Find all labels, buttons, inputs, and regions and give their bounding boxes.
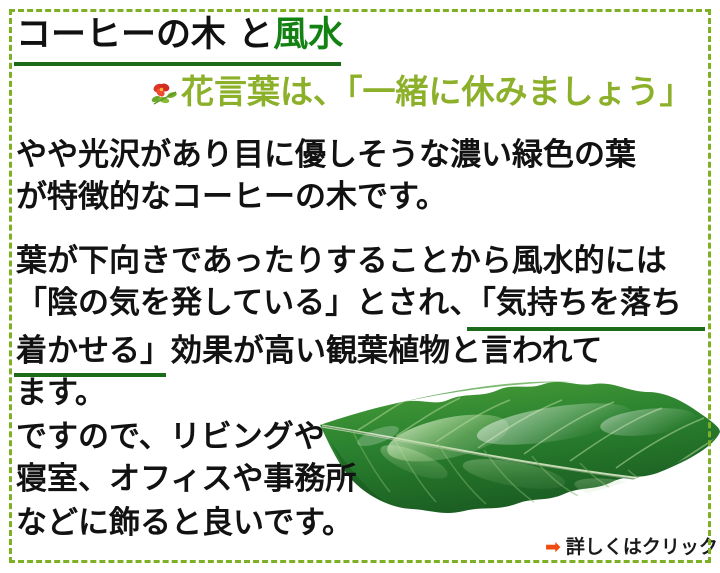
title-text-black: コーヒーの木 と [16, 15, 273, 55]
cta-label: 詳しくはクリック! [566, 536, 720, 558]
flower-icon [150, 80, 180, 108]
underline-kikaseru [14, 373, 166, 377]
paragraph-2-line-4: ます。 [16, 372, 106, 414]
coffee-feng-shui-banner: コーヒーの木 と風水 花言葉は、「一緒に休みましょう」 やや光沢があり目に優しそ… [0, 0, 720, 573]
title-text-fengshui: 風水 [273, 15, 343, 55]
paragraph-2-line-2: 「陰の気を発している」とされ、「気持ちを落ち [16, 282, 682, 324]
page-title: コーヒーの木 と風水 [16, 14, 706, 56]
subtitle-text: 花言葉は、「一緒に休みましょう」 [181, 72, 693, 111]
paragraph-3-line-2: 寝室、オフィスや事務所 [16, 458, 356, 500]
paragraph-3-line-3: などに飾ると良いです。 [16, 502, 353, 544]
arrow-right-icon: ➡ [545, 535, 561, 559]
paragraph-1-line-1: やや光沢があり目に優しそうな濃い緑色の葉 [16, 134, 636, 176]
paragraph-2-line-1: 葉が下向きであったりすることから風水的には [16, 240, 667, 282]
underline-kimochi-wo-ochi [467, 327, 705, 331]
paragraph-2-line-3: 着かせる」効果が高い観葉植物と言われて [16, 330, 603, 372]
subtitle-hanakotoba: 花言葉は、「一緒に休みましょう」 [150, 72, 710, 112]
banner-content: コーヒーの木 と風水 花言葉は、「一緒に休みましょう」 やや光沢があり目に優しそ… [0, 0, 720, 573]
title-underline-rule [14, 62, 341, 66]
paragraph-1-line-2: が特徴的なコーヒーの木です。 [16, 176, 447, 218]
paragraph-3-line-1: ですので、リビングや [16, 416, 325, 458]
details-click-link[interactable]: ➡詳しくはクリック! [545, 535, 720, 559]
